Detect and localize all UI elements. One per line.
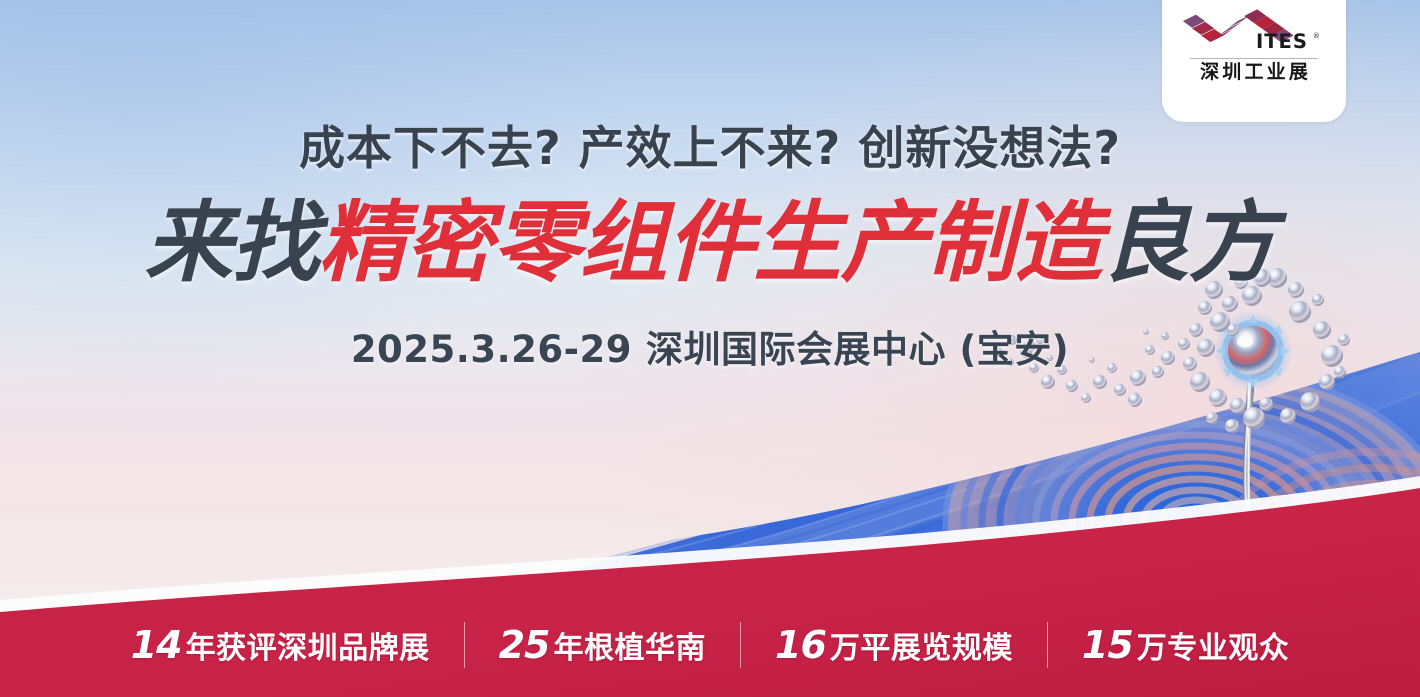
stat-label: 万平展览规模 (830, 623, 1013, 667)
headline-part-1: 来找 (144, 191, 318, 294)
event-venue: 深圳国际会展中心 (宝安) (646, 328, 1069, 371)
stats-row: 14 年获评深圳品牌展 25 年根植华南 16 万平展览规模 15 万专业观众 (0, 593, 1420, 697)
ites-logo-badge[interactable]: ITES ® 深圳工业展 (1162, 0, 1346, 122)
stats-band: 14 年获评深圳品牌展 25 年根植华南 16 万平展览规模 15 万专业观众 (0, 562, 1420, 697)
headline: 来找精密零组件生产制造良方 (0, 194, 1420, 293)
stat-item: 25 年根植华南 (465, 623, 740, 667)
stat-label: 年根植华南 (554, 623, 707, 667)
stat-number: 15 (1082, 623, 1133, 667)
stat-label: 万专业观众 (1137, 623, 1290, 667)
poster-canvas: ITES ® 深圳工业展 成本下不去? 产效上不来? 创新没想法? 来找精密零组… (0, 0, 1420, 697)
stat-item: 14 年获评深圳品牌展 (97, 623, 464, 667)
event-date: 2025.3.26-29 (351, 328, 632, 371)
dateline: 2025.3.26-29深圳国际会展中心 (宝安) (0, 319, 1420, 373)
stat-number: 14 (131, 623, 182, 667)
headline-part-2: 精密零组件生产制造 (318, 191, 1101, 294)
logo-chinese-label: 深圳工业展 (1197, 63, 1311, 82)
ites-logo-icon: ITES ® (1179, 3, 1329, 55)
logo-divider (1190, 58, 1318, 59)
stat-item: 15 万专业观众 (1048, 623, 1323, 667)
ites-wordmark-text: ITES (1256, 30, 1308, 53)
stat-number: 25 (499, 623, 550, 667)
headline-part-3: 良方 (1102, 191, 1276, 294)
registered-mark-text: ® (1313, 31, 1320, 40)
stat-label: 年获评深圳品牌展 (186, 623, 430, 667)
stat-item: 16 万平展览规模 (741, 623, 1047, 667)
stat-number: 16 (775, 623, 826, 667)
